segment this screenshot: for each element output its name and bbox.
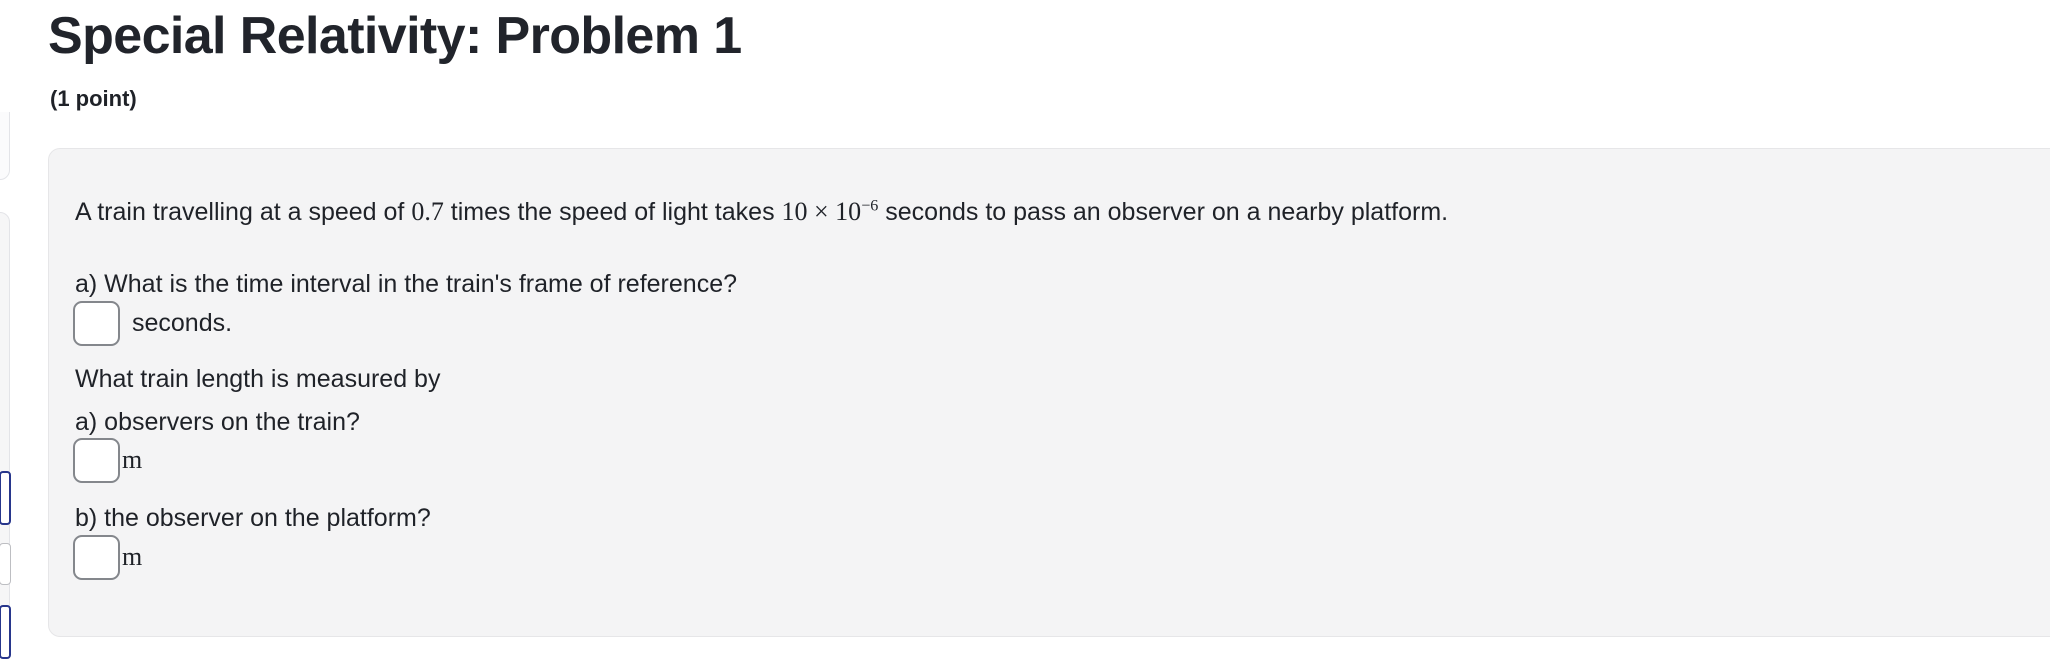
point-value-label: (1 point) <box>50 86 137 112</box>
question-label-a2: a) observers on the train? <box>75 407 360 437</box>
answer-input-b[interactable] <box>73 535 120 580</box>
statement-time-value: 10 × 10−6 <box>782 197 879 226</box>
answer-row-a: seconds. <box>73 300 232 346</box>
statement-time-mantissa: 10 × 10 <box>782 197 862 226</box>
page-header: Special Relativity: Problem 1 (1 point) <box>0 0 2050 112</box>
question-label-a: a) What is the time interval in the trai… <box>75 269 737 299</box>
question-label-b: b) the observer on the platform? <box>75 503 431 533</box>
sidebar-item-plain-2[interactable] <box>0 543 11 585</box>
statement-time-exponent: −6 <box>861 197 878 214</box>
answer-unit-a2: m <box>122 445 142 475</box>
question-label-length: What train length is measured by <box>75 364 440 394</box>
answer-unit-b: m <box>122 542 142 572</box>
sidebar-item-active-3[interactable] <box>0 605 11 659</box>
problem-panel: A train travelling at a speed of 0.7 tim… <box>48 148 2050 637</box>
answer-row-a2: m <box>73 437 142 483</box>
statement-text-part-3: seconds to pass an observer on a nearby … <box>878 198 1448 226</box>
page-title: Special Relativity: Problem 1 <box>48 6 742 66</box>
answer-input-a2[interactable] <box>73 438 120 483</box>
sidebar-panel-bottom[interactable] <box>0 212 10 652</box>
statement-speed-value: 0.7 <box>411 197 444 226</box>
problem-statement: A train travelling at a speed of 0.7 tim… <box>75 197 1448 227</box>
sidebar-item-active-1[interactable] <box>0 471 11 525</box>
answer-unit-a: seconds. <box>132 309 232 338</box>
statement-text-part-2: times the speed of light takes <box>444 198 782 226</box>
answer-input-a[interactable] <box>73 301 120 346</box>
statement-text-part-1: A train travelling at a speed of <box>75 198 411 226</box>
answer-row-b: m <box>73 534 142 580</box>
